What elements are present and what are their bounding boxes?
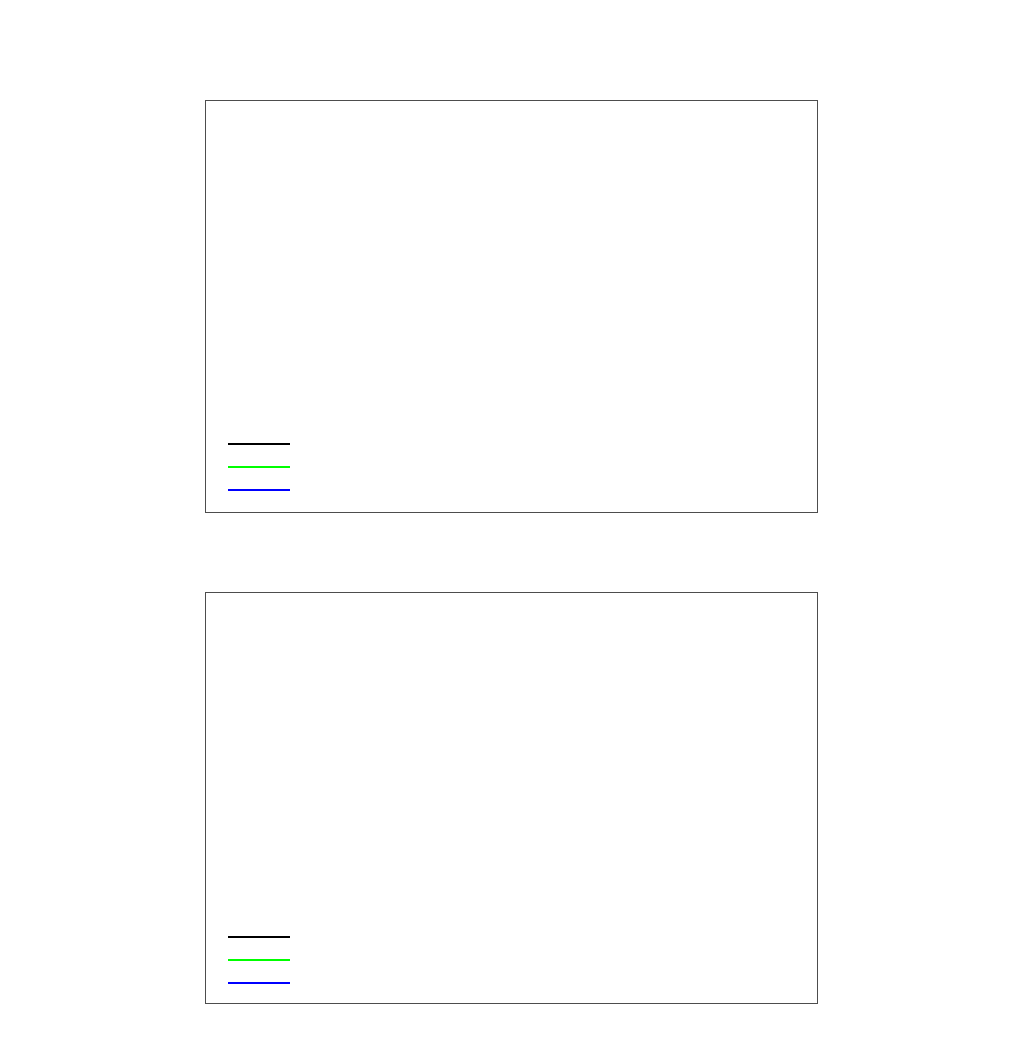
legend-swatch-line-icon	[228, 936, 290, 938]
legend-item-picontrol	[228, 432, 300, 455]
legend-swatch-line-icon	[228, 489, 290, 491]
legend-swatch-line-icon	[228, 982, 290, 984]
top-legend	[228, 432, 300, 501]
figure-canvas	[0, 0, 1024, 1024]
legend-swatch-line-icon	[228, 959, 290, 961]
bottom-legend	[228, 925, 300, 994]
legend-item-pre-picontrol-2deg	[228, 455, 300, 478]
legend-item-pre-picontrol-2deg-smoothed	[228, 948, 300, 971]
legend-item-picontrol-2deg	[228, 478, 300, 501]
legend-swatch-line-icon	[228, 466, 290, 468]
legend-item-picontrol-2deg-smoothed	[228, 971, 300, 994]
legend-swatch-line-icon	[228, 443, 290, 445]
legend-item-picontrol-smoothed	[228, 925, 300, 948]
